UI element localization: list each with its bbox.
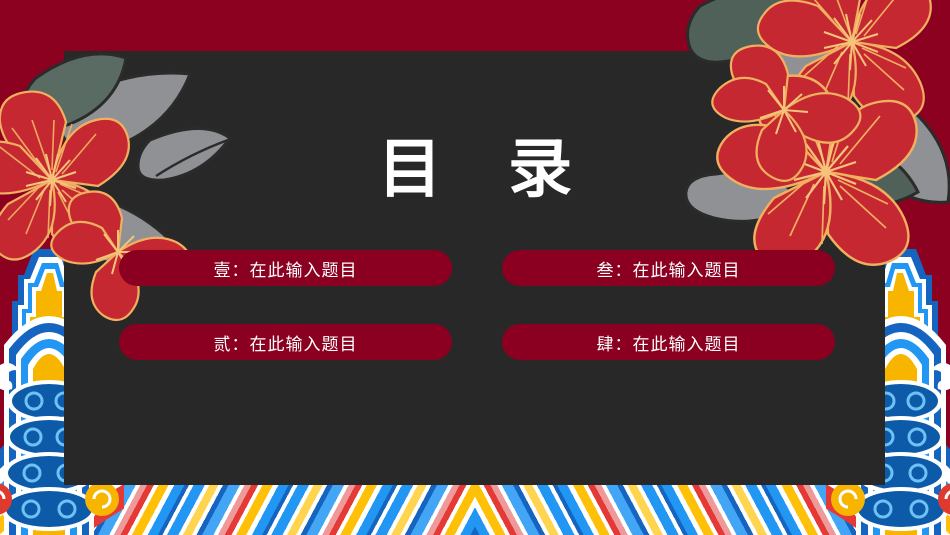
toc-item-3-label: 叁：在此输入题目 (597, 256, 741, 281)
stripe-band-left-half (0, 480, 475, 535)
toc-item-1-label: 壹：在此输入题目 (214, 256, 358, 281)
toc-menu: 壹：在此输入题目 叁：在此输入题目 贰：在此输入题目 肆：在此输入题目 (119, 250, 835, 360)
toc-item-1[interactable]: 壹：在此输入题目 (119, 250, 452, 286)
stripe-band-right-half (475, 480, 950, 535)
toc-item-4-label: 肆：在此输入题目 (597, 330, 741, 355)
toc-item-4[interactable]: 肆：在此输入题目 (502, 324, 835, 360)
toc-item-2[interactable]: 贰：在此输入题目 (119, 324, 452, 360)
toc-item-3[interactable]: 叁：在此输入题目 (502, 250, 835, 286)
toc-item-2-label: 贰：在此输入题目 (214, 330, 358, 355)
page-title: 目 录 (0, 138, 950, 202)
slide-canvas: 目 录 壹：在此输入题目 叁：在此输入题目 贰：在此输入题目 肆：在此输入题目 (0, 0, 950, 535)
bottom-stripe-band (0, 480, 950, 535)
